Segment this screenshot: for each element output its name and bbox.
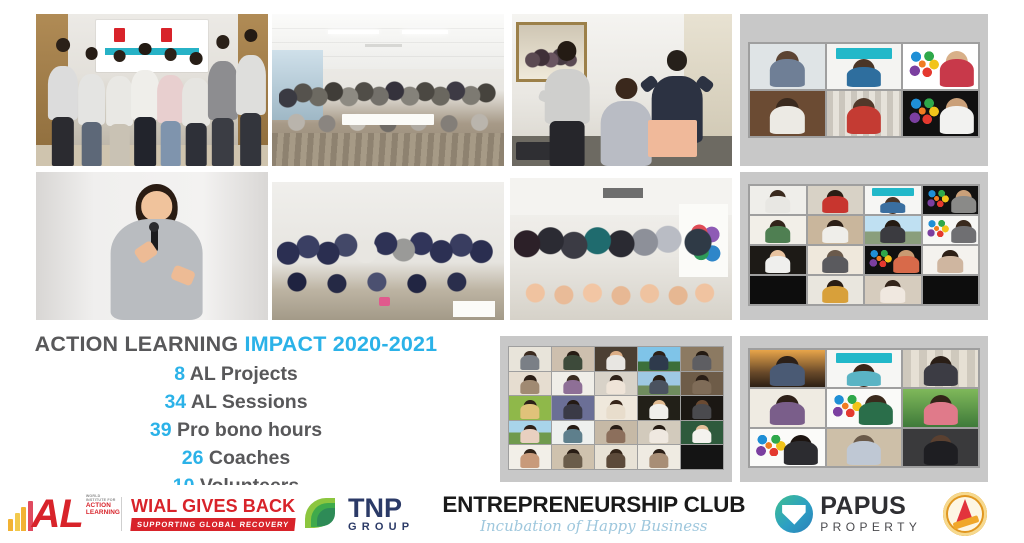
stat-number: 39	[150, 419, 172, 441]
video-tile	[923, 186, 979, 214]
papus-droplet-icon	[775, 495, 813, 533]
tnp-name: TNP	[348, 495, 414, 521]
stat-number: 8	[174, 363, 185, 385]
video-tile	[923, 246, 979, 274]
photo-group-navy-shirts	[272, 182, 504, 320]
video-tile	[750, 429, 825, 466]
video-tile	[552, 372, 594, 396]
video-tile	[681, 372, 723, 396]
video-tile	[552, 347, 594, 371]
video-tile	[865, 246, 921, 274]
video-tile	[865, 186, 921, 214]
headline-highlight: IMPACT 2020-2021	[245, 332, 438, 356]
video-tile	[750, 246, 806, 274]
zoom-grid-bottom-right	[748, 348, 980, 468]
video-tile	[903, 429, 978, 466]
video-tile	[827, 91, 902, 136]
zoom-grid-middle-right	[748, 184, 980, 306]
stat-number: 34	[164, 391, 186, 413]
video-tile	[750, 389, 825, 426]
papus-wordmark: PAPUS PROPERTY	[820, 494, 921, 534]
video-tile	[681, 396, 723, 420]
stat-number: 26	[182, 447, 204, 469]
video-tile	[681, 421, 723, 445]
wial-logo: AL WORLD INSTITUTE FOR ACTION LEARNING	[8, 490, 112, 538]
stat-pro-bono-hours: 39 Pro bono hours	[0, 417, 472, 445]
video-tile	[808, 276, 864, 304]
stat-al-sessions: 34 AL Sessions	[0, 389, 472, 417]
video-tile	[808, 216, 864, 244]
video-tile	[509, 396, 551, 420]
video-tile	[750, 350, 825, 387]
headline-prefix: ACTION LEARNING	[35, 332, 239, 356]
video-tile	[808, 186, 864, 214]
video-tile	[509, 421, 551, 445]
wial-gives-back-logo: WIAL GIVES BACK SUPPORTING GLOBAL RECOVE…	[131, 497, 281, 531]
stat-label: Pro bono hours	[177, 419, 322, 441]
zoom-grid-middle-right-frame	[740, 172, 988, 320]
video-tile	[865, 276, 921, 304]
video-tile	[638, 396, 680, 420]
video-tile	[750, 44, 825, 89]
wial-sub-line1: WORLD INSTITUTE FOR	[86, 494, 120, 502]
video-tile	[923, 276, 979, 304]
video-tile	[681, 347, 723, 371]
video-tile	[827, 429, 902, 466]
video-tile	[827, 389, 902, 426]
stat-label: AL Sessions	[191, 391, 308, 413]
video-tile	[923, 216, 979, 244]
video-tile	[509, 347, 551, 371]
video-tile	[595, 347, 637, 371]
page-title: ACTION LEARNING IMPACT 2020-2021	[0, 332, 472, 357]
tnp-wordmark: TNP GROUP	[348, 495, 414, 533]
gives-back-tagline: SUPPORTING GLOBAL RECOVERY	[130, 518, 296, 531]
stat-coaches: 26 Coaches	[0, 445, 472, 473]
video-tile	[638, 372, 680, 396]
zoom-grid-bottom-right-frame	[740, 336, 988, 482]
circular-emblem-seal-icon	[943, 492, 987, 536]
video-tile	[750, 216, 806, 244]
entrepreneurship-club-title: ENTREPRENEURSHIP CLUB	[442, 493, 745, 517]
video-tile	[750, 91, 825, 136]
wial-subtext: WORLD INSTITUTE FOR ACTION LEARNING	[86, 490, 120, 516]
video-tile	[827, 350, 902, 387]
video-tile	[595, 421, 637, 445]
photo-woman-microphone	[36, 172, 268, 320]
video-tile	[903, 389, 978, 426]
video-tile	[638, 347, 680, 371]
video-tile	[808, 246, 864, 274]
zoom-grid-bottom-mid	[508, 346, 724, 470]
video-tile	[681, 445, 723, 469]
video-tile	[595, 396, 637, 420]
video-tile	[509, 372, 551, 396]
video-tile	[750, 276, 806, 304]
video-tile	[903, 44, 978, 89]
video-tile	[903, 350, 978, 387]
photo-team-fists-banner	[36, 14, 268, 166]
video-tile	[595, 445, 637, 469]
wial-letters: AL	[32, 497, 83, 531]
zoom-grid-bottom-mid-frame	[500, 336, 732, 482]
zoom-grid-top-right	[748, 42, 980, 138]
video-tile	[509, 445, 551, 469]
papus-name: PAPUS	[820, 494, 921, 519]
stat-al-projects: 8 AL Projects	[0, 361, 472, 389]
entrepreneurship-club-tagline: Incubation of Happy Business	[442, 517, 745, 535]
tnp-group-logo: TNP GROUP	[303, 494, 414, 534]
video-tile	[552, 421, 594, 445]
logo-divider	[121, 497, 122, 531]
entrepreneurship-club-logo: ENTREPRENEURSHIP CLUB Incubation of Happ…	[442, 493, 745, 536]
video-tile	[638, 445, 680, 469]
video-tile	[903, 91, 978, 136]
video-tile	[827, 44, 902, 89]
video-tile	[595, 372, 637, 396]
photo-three-people-desk	[512, 14, 732, 166]
zoom-grid-top-right-frame	[740, 14, 988, 166]
wial-bars-icon	[8, 497, 33, 531]
sponsor-logo-bar: AL WORLD INSTITUTE FOR ACTION LEARNING W…	[0, 485, 1024, 543]
video-tile	[865, 216, 921, 244]
video-tile	[638, 421, 680, 445]
video-tile	[552, 445, 594, 469]
photo-group-arms-forward	[510, 178, 732, 320]
stat-label: Coaches	[209, 447, 290, 469]
action-learning-impact-poster: ACTION LEARNING IMPACT 2020-2021 8 AL Pr…	[0, 0, 1024, 543]
papus-sub: PROPERTY	[820, 520, 921, 534]
video-tile	[552, 396, 594, 420]
tnp-sub: GROUP	[348, 521, 414, 533]
tnp-leaf-icon	[303, 494, 343, 534]
wial-sub-line2: ACTION LEARNING	[86, 502, 120, 516]
stat-label: AL Projects	[190, 363, 298, 385]
video-tile	[750, 186, 806, 214]
papus-property-logo: PAPUS PROPERTY	[775, 494, 921, 534]
gives-back-title: WIAL GIVES BACK	[131, 497, 295, 516]
photo-large-group-office	[272, 14, 504, 166]
